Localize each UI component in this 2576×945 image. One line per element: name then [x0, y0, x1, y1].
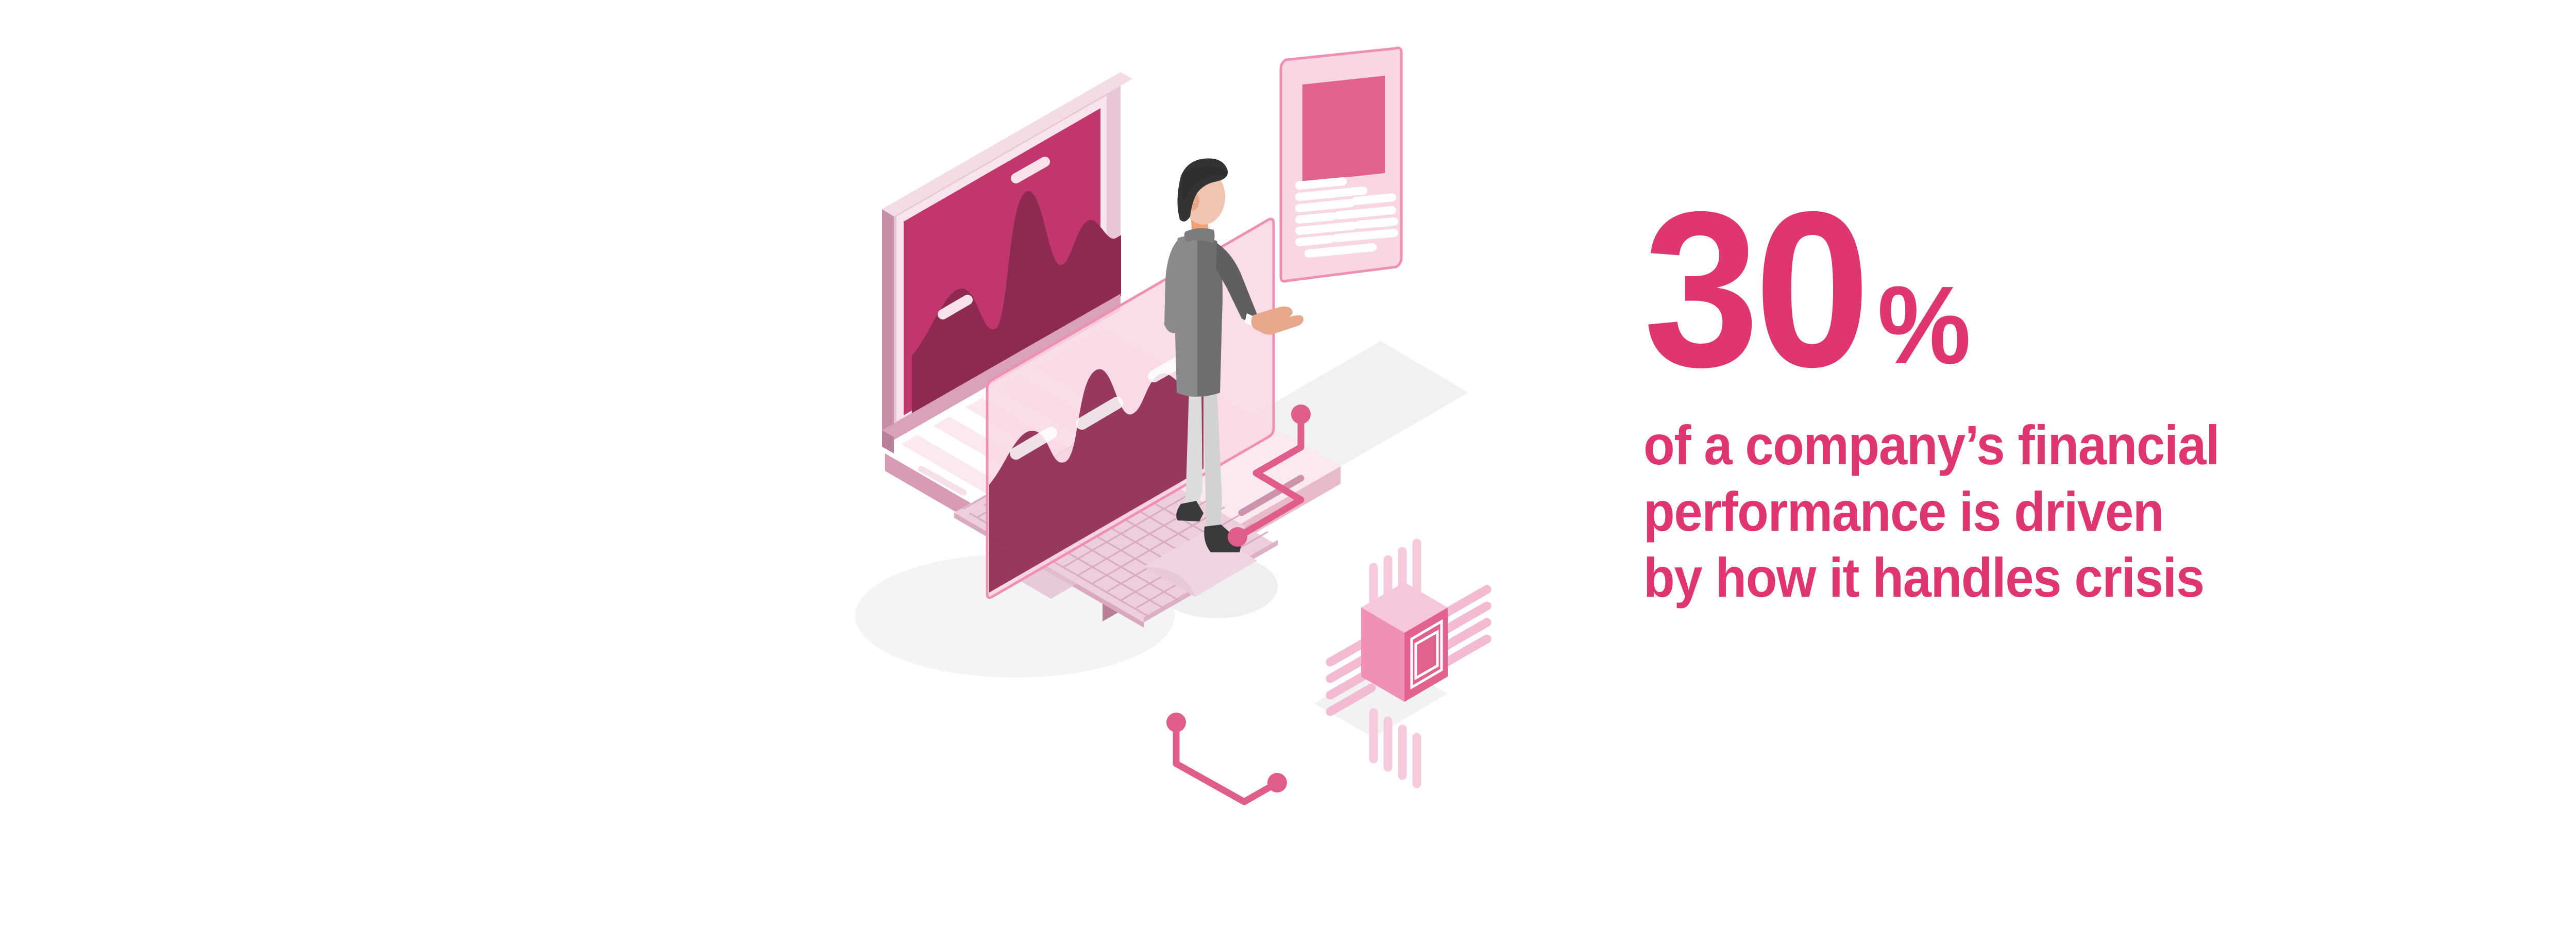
stat-caption: of a company’s financial performance is … [1643, 412, 2449, 611]
floating-content-panel[interactable] [1281, 48, 1401, 281]
stat-block: 30 % of a company’s financial performanc… [1643, 204, 2519, 611]
isometric-illustration [835, 46, 1659, 881]
caption-line-2: performance is driven [1643, 479, 2449, 545]
stat-percent-symbol: % [1877, 269, 1971, 380]
poster-canvas: 30 % of a company’s financial performanc… [0, 0, 2576, 945]
connector-dot-lower-end [1267, 773, 1287, 792]
connector-line-lower [1176, 727, 1273, 802]
stat-number: 30 [1643, 204, 1866, 376]
caption-line-1: of a company’s financial [1643, 412, 2449, 479]
connector-dot-lower-start [1166, 713, 1186, 732]
connector-dot-upper-start [1291, 404, 1311, 424]
cpu-chip[interactable] [1330, 543, 1487, 784]
connector-dot-upper-end [1228, 527, 1247, 547]
panel-image-block [1302, 76, 1385, 182]
caption-line-3: by how it handles crisis [1643, 545, 2449, 611]
chip-pins-right [1446, 589, 1487, 663]
headline-stat: 30 % [1643, 204, 2519, 380]
